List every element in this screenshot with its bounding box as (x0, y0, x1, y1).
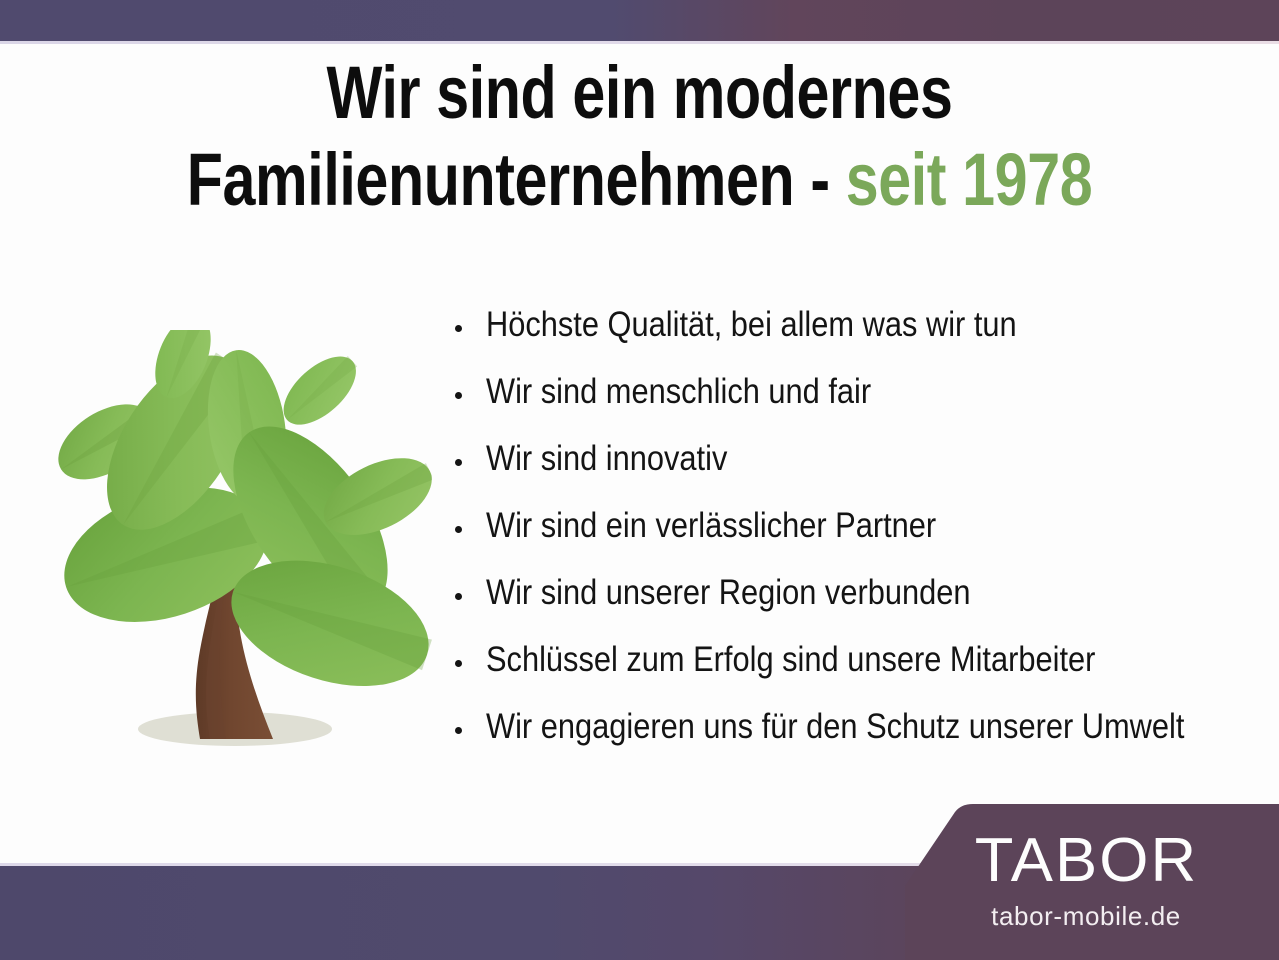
headline-line-1: Wir sind ein modernes (128, 55, 1151, 130)
list-item: Wir sind innovativ (455, 441, 1265, 508)
bullet-dot-icon (455, 593, 462, 600)
list-item: Wir engagieren uns für den Schutz unsere… (455, 709, 1265, 776)
list-item: Wir sind ein verlässlicher Partner (455, 508, 1265, 575)
list-item-label: Wir engagieren uns für den Schutz unsere… (486, 709, 1184, 744)
bullet-dot-icon (455, 392, 462, 399)
list-item-label: Wir sind ein verlässlicher Partner (486, 508, 936, 543)
bullet-dot-icon (455, 325, 462, 332)
list-item-label: Wir sind innovativ (486, 441, 727, 476)
list-item-label: Höchste Qualität, bei allem was wir tun (486, 307, 1017, 342)
list-item: Wir sind menschlich und fair (455, 374, 1265, 441)
headline-accent-year: seit 1978 (846, 138, 1093, 221)
bullet-dot-icon (455, 526, 462, 533)
page-title: Wir sind ein modernes Familienunternehme… (0, 55, 1279, 218)
list-item-label: Wir sind menschlich und fair (486, 374, 871, 409)
top-bar-divider (0, 41, 1279, 44)
logo-url-label: tabor-mobile.de (991, 903, 1181, 929)
list-item-label: Schlüssel zum Erfolg sind unsere Mitarbe… (486, 642, 1095, 677)
headline-line-2-prefix: Familienunternehmen - (187, 138, 846, 221)
list-item: Wir sind unserer Region verbunden (455, 575, 1265, 642)
list-item: Schlüssel zum Erfolg sind unsere Mitarbe… (455, 642, 1265, 709)
value-bullet-list: Höchste Qualität, bei allem was wir tun … (455, 307, 1265, 776)
logo-wordmark: TABOR (974, 830, 1197, 892)
tree-logo-icon (30, 330, 432, 760)
headline-line-2: Familienunternehmen - seit 1978 (128, 142, 1151, 217)
tabor-logo-badge: TABOR tabor-mobile.de (893, 800, 1279, 960)
slide-canvas: Wir sind ein modernes Familienunternehme… (0, 0, 1279, 960)
tree-leaf-topright-small (272, 344, 368, 437)
bullet-dot-icon (455, 660, 462, 667)
bullet-dot-icon (455, 727, 462, 734)
list-item-label: Wir sind unserer Region verbunden (486, 575, 971, 610)
list-item: Höchste Qualität, bei allem was wir tun (455, 307, 1265, 374)
bullet-dot-icon (455, 459, 462, 466)
top-decorative-bar (0, 0, 1279, 41)
